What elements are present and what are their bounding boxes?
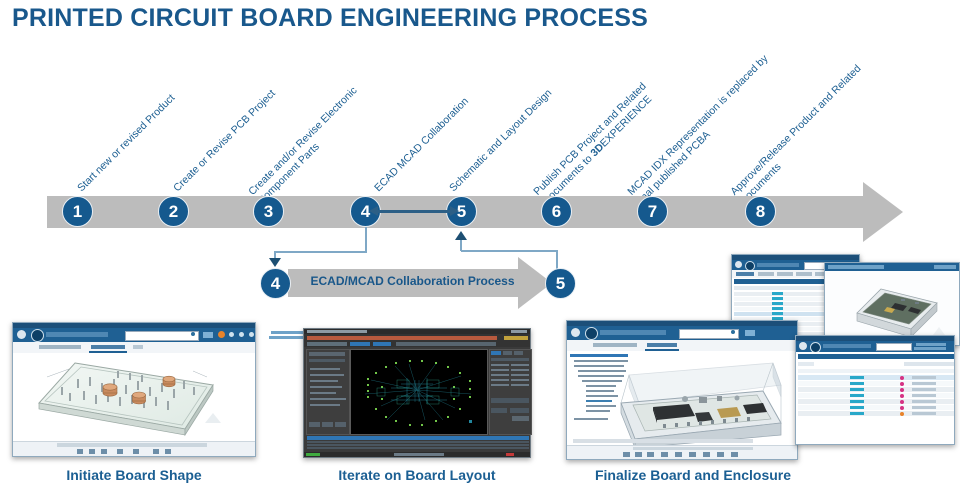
step4-step5-double-arrow [378, 210, 450, 213]
timeline-arrowhead [863, 182, 903, 242]
window-controls[interactable] [511, 330, 527, 333]
app-topbar [567, 326, 797, 340]
compass-icon[interactable] [799, 342, 807, 350]
list-item[interactable] [511, 384, 529, 386]
tree-item[interactable] [310, 392, 336, 394]
panel-subheader [309, 359, 345, 362]
table-filter[interactable] [798, 362, 814, 366]
tab-active[interactable] [91, 345, 125, 349]
row-bar [850, 394, 864, 397]
panel-toolbar[interactable] [491, 358, 529, 361]
user-role-label [914, 347, 946, 350]
message-row[interactable] [307, 441, 529, 443]
list-item[interactable] [491, 374, 509, 376]
list-item[interactable] [491, 379, 509, 381]
toolbar-row-icons-3[interactable] [307, 342, 347, 346]
status-dot [900, 400, 904, 404]
caption-finalize-board-enclosure: Finalize Board and Enclosure [566, 467, 820, 483]
row-bar [850, 400, 864, 403]
row-text [912, 394, 936, 397]
toolbar-icon-5[interactable] [133, 449, 139, 454]
toolbar-icon-1[interactable] [77, 449, 83, 454]
tree-item[interactable] [310, 386, 342, 388]
status-coordinates [394, 453, 444, 456]
tree-item[interactable] [310, 398, 346, 400]
panel-tab-props[interactable] [514, 351, 523, 355]
toolbar-menu-strip[interactable] [633, 447, 753, 450]
pcb-ratsnest-graphic [351, 350, 487, 434]
app-breadcrumb [46, 332, 108, 337]
caption-initiate-board-shape: Initiate Board Shape [12, 467, 256, 483]
toolbar-icon-3[interactable] [101, 449, 107, 454]
toolbar-row-icons-1[interactable] [307, 336, 497, 340]
row-bar [850, 406, 864, 409]
viewer-title-text [828, 265, 884, 269]
toolbar-icon-4[interactable] [117, 449, 123, 454]
tab-active[interactable] [350, 342, 370, 346]
settings-icon[interactable] [239, 332, 244, 337]
list-item[interactable] [511, 374, 529, 376]
left-panel[interactable] [306, 349, 350, 435]
thumbnail-initiate-board-shape[interactable] [12, 322, 256, 457]
refresh-icon[interactable] [745, 330, 755, 336]
status-dot [900, 394, 904, 398]
window-title-text [307, 330, 367, 333]
notification-icon[interactable] [218, 331, 225, 338]
panel-field-1[interactable] [491, 408, 507, 413]
grid-icon[interactable] [249, 332, 254, 337]
toolbar-icon-7[interactable] [703, 452, 710, 457]
viewport-scrollbar[interactable] [573, 439, 753, 443]
panel-header [309, 352, 345, 356]
row-bar [772, 302, 783, 305]
tab-item[interactable] [796, 272, 812, 276]
caption-iterate-board-layout: Iterate on Board Layout [303, 467, 531, 483]
table-title-bar [798, 354, 954, 359]
panel-tab-nets[interactable] [503, 351, 512, 355]
tab-project[interactable] [39, 345, 81, 349]
app-logo-icon [31, 329, 44, 342]
app-breadcrumb [757, 263, 799, 267]
search-icon[interactable] [191, 332, 195, 336]
panel-tab-3[interactable] [335, 422, 346, 427]
connector-4-vertical [365, 227, 367, 253]
panel-field-2[interactable] [510, 408, 529, 413]
compass-icon[interactable] [17, 330, 26, 339]
tab-active[interactable] [736, 272, 754, 276]
thumbnail-3d-viewer-panel[interactable] [824, 262, 960, 346]
cad-viewport[interactable] [567, 351, 797, 446]
search-icon[interactable] [731, 330, 735, 334]
tree-item[interactable] [310, 404, 340, 406]
status-error-count [506, 453, 514, 456]
timeline-step-8[interactable]: 8 [745, 196, 776, 227]
row-text [912, 388, 936, 391]
viewer-window-controls[interactable] [934, 265, 956, 269]
viewer-titlebar [825, 263, 959, 271]
thumbnail-finalize-board-enclosure[interactable] [566, 320, 798, 460]
row-text [912, 382, 936, 385]
list-item[interactable] [491, 384, 509, 386]
row-text [912, 376, 936, 379]
refresh-icon[interactable] [203, 332, 213, 338]
compass-icon[interactable] [735, 261, 742, 268]
tab-item[interactable] [758, 272, 774, 276]
timeline-step-1[interactable]: 1 [62, 196, 93, 227]
timeline-step-2[interactable]: 2 [158, 196, 189, 227]
list-item[interactable] [491, 364, 509, 366]
panel-apply-button[interactable] [512, 416, 529, 421]
table-action-icons[interactable] [904, 362, 954, 366]
status-dot [900, 376, 904, 380]
row-bar [772, 312, 783, 315]
toolbar-row-icons-4[interactable] [396, 342, 496, 346]
list-item[interactable] [511, 379, 529, 381]
connector-5-horizontal [461, 250, 558, 252]
tab-active[interactable] [647, 343, 677, 347]
timeline-step-6[interactable]: 6 [541, 196, 572, 227]
toolbar-icon-5[interactable] [675, 452, 682, 457]
row-bar [850, 376, 864, 379]
list-item[interactable] [511, 364, 529, 366]
toolbar-menu-strip[interactable] [57, 443, 207, 447]
enclosure-assembly-3d [567, 351, 799, 448]
row-text [912, 400, 936, 403]
panel-tab-layers[interactable] [491, 351, 501, 355]
list-item[interactable] [511, 369, 529, 371]
status-dot [900, 406, 904, 410]
thumbnail-iterate-board-layout[interactable] [303, 328, 531, 458]
app-breadcrumb [600, 330, 666, 335]
layout-canvas[interactable] [350, 349, 488, 435]
row-bar [772, 292, 783, 295]
toolbar-icon-2[interactable] [89, 449, 95, 454]
right-panel[interactable] [489, 349, 532, 435]
row-bar [850, 382, 864, 385]
connector-5-rise [460, 240, 462, 251]
toolbar-icon-8[interactable] [717, 452, 724, 457]
tab-secondary[interactable] [373, 342, 391, 346]
row-bar [772, 307, 783, 310]
message-row[interactable] [307, 447, 529, 449]
toolbar-icon-9[interactable] [731, 452, 738, 457]
app-topbar [796, 341, 954, 352]
toolbar-icon-6[interactable] [689, 452, 696, 457]
tab-item[interactable] [777, 272, 793, 276]
step-label-group: Start new or revised Product Create or R… [0, 0, 960, 195]
panel-tab-2[interactable] [322, 422, 333, 427]
status-dot [900, 388, 904, 392]
search-input[interactable] [679, 329, 739, 339]
search-input[interactable] [125, 331, 199, 341]
toolbar-icon-3[interactable] [647, 452, 654, 457]
toolbar-row-icons-2[interactable] [504, 336, 528, 340]
search-input[interactable] [876, 343, 912, 351]
tree-item[interactable] [310, 368, 340, 370]
help-icon[interactable] [229, 332, 234, 337]
subprocess-label: ECAD/MCAD Collaboration Process [305, 274, 520, 288]
status-dot [900, 382, 904, 386]
tab-more[interactable] [133, 345, 143, 349]
toolbar-icon-2[interactable] [635, 452, 642, 457]
infographic-root: PRINTED CIRCUIT BOARD ENGINEERING PROCES… [0, 0, 960, 495]
cad-viewport[interactable] [13, 353, 255, 442]
status-bar [304, 452, 530, 457]
timeline-step-3[interactable]: 3 [253, 196, 284, 227]
tree-item[interactable] [310, 374, 344, 376]
compass-icon[interactable] [571, 328, 580, 337]
row-text [912, 412, 936, 415]
toolbar-icon-1[interactable] [623, 452, 630, 457]
app-logo-icon [585, 327, 598, 340]
status-dot-warning [900, 412, 904, 416]
subprocess-end-circle[interactable]: 5 [545, 268, 576, 299]
panel-tab-1[interactable] [309, 422, 320, 427]
table-region[interactable] [796, 352, 954, 444]
viewer-canvas[interactable] [825, 271, 959, 345]
timeline-step-7[interactable]: 7 [637, 196, 668, 227]
step-label-1: Start new or revised Product [75, 92, 178, 195]
messages-panel[interactable] [306, 435, 530, 453]
status-indicator [306, 453, 320, 456]
messages-header [307, 436, 529, 440]
connector-4-arrowhead [269, 258, 281, 267]
toolbar-icon-6[interactable] [153, 449, 159, 454]
tab-project[interactable] [593, 343, 637, 347]
connector-5-arrowhead [455, 231, 467, 240]
row-bar [772, 297, 783, 300]
app-breadcrumb [823, 344, 871, 348]
row-bar [850, 388, 864, 391]
thumbnail-status-table-panel[interactable] [795, 335, 955, 445]
tree-item[interactable] [310, 380, 338, 382]
list-item[interactable] [491, 369, 509, 371]
cad-toolbar[interactable] [13, 441, 255, 456]
user-name-label [916, 343, 946, 346]
connector-4-horizontal [274, 251, 367, 253]
toolbar-icon-7[interactable] [165, 449, 171, 454]
subprocess-start-circle[interactable]: 4 [260, 268, 291, 299]
panel-button-1[interactable] [491, 398, 529, 403]
app-topbar [13, 328, 255, 342]
cad-toolbar[interactable] [567, 445, 797, 459]
message-row[interactable] [307, 444, 529, 446]
board-3d-model [13, 353, 257, 444]
table-header-row [798, 369, 954, 373]
toolbar-icon-4[interactable] [661, 452, 668, 457]
eda-toolbar[interactable] [304, 334, 530, 347]
row-bar [850, 412, 864, 415]
row-text [912, 406, 936, 409]
